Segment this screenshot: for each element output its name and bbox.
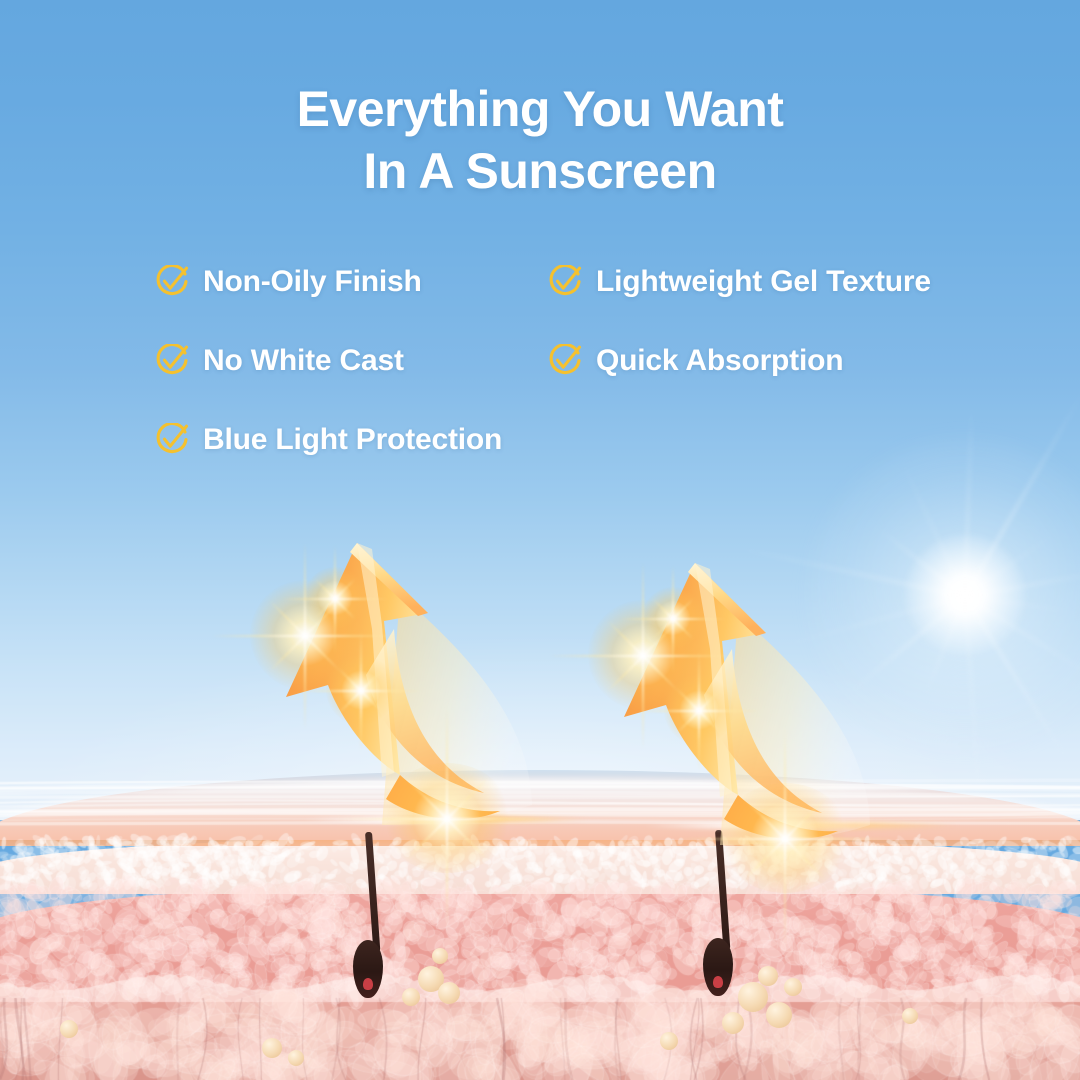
feature-item: Blue Light Protection — [155, 420, 535, 459]
feature-label: Quick Absorption — [596, 344, 843, 377]
sebaceous-gland — [902, 1008, 918, 1024]
feature-item: Quick Absorption — [548, 341, 948, 380]
feature-item: Non-Oily Finish — [155, 262, 535, 301]
check-circle-icon — [548, 265, 582, 299]
check-circle-icon — [155, 423, 189, 457]
sebaceous-gland — [288, 1050, 304, 1066]
sunscreen-feature-graphic: Everything You Want In A Sunscreen Non-O… — [0, 0, 1080, 1080]
absorption-arrow-left — [232, 525, 562, 835]
check-circle-icon — [155, 344, 189, 378]
feature-column-left: Non-Oily Finish No White Cast — [155, 262, 535, 499]
sun-core — [905, 535, 1025, 655]
absorption-arrow-right — [570, 545, 900, 855]
feature-label: Blue Light Protection — [203, 423, 502, 456]
feature-label: No White Cast — [203, 344, 404, 377]
sebaceous-gland — [60, 1020, 78, 1038]
sebaceous-gland — [738, 982, 768, 1012]
headline-line-2: In A Sunscreen — [0, 140, 1080, 202]
check-circle-icon — [155, 265, 189, 299]
sebaceous-gland — [766, 1002, 792, 1028]
check-circle-icon — [548, 344, 582, 378]
feature-item: Lightweight Gel Texture — [548, 262, 948, 301]
sebaceous-gland — [432, 948, 448, 964]
dermal-papilla — [713, 976, 723, 988]
headline-line-1: Everything You Want — [0, 78, 1080, 140]
dermal-papilla — [363, 978, 373, 990]
feature-item: No White Cast — [155, 341, 535, 380]
feature-column-right: Lightweight Gel Texture Quick Absorption — [548, 262, 948, 420]
sebaceous-gland — [660, 1032, 678, 1050]
sebaceous-gland — [438, 982, 460, 1004]
feature-label: Lightweight Gel Texture — [596, 265, 931, 298]
page-title: Everything You Want In A Sunscreen — [0, 78, 1080, 202]
feature-label: Non-Oily Finish — [203, 265, 422, 298]
sebaceous-gland — [722, 1012, 744, 1034]
sebaceous-gland — [758, 966, 778, 986]
sebaceous-gland — [784, 978, 802, 996]
sebaceous-gland — [262, 1038, 282, 1058]
sebaceous-gland — [402, 988, 420, 1006]
